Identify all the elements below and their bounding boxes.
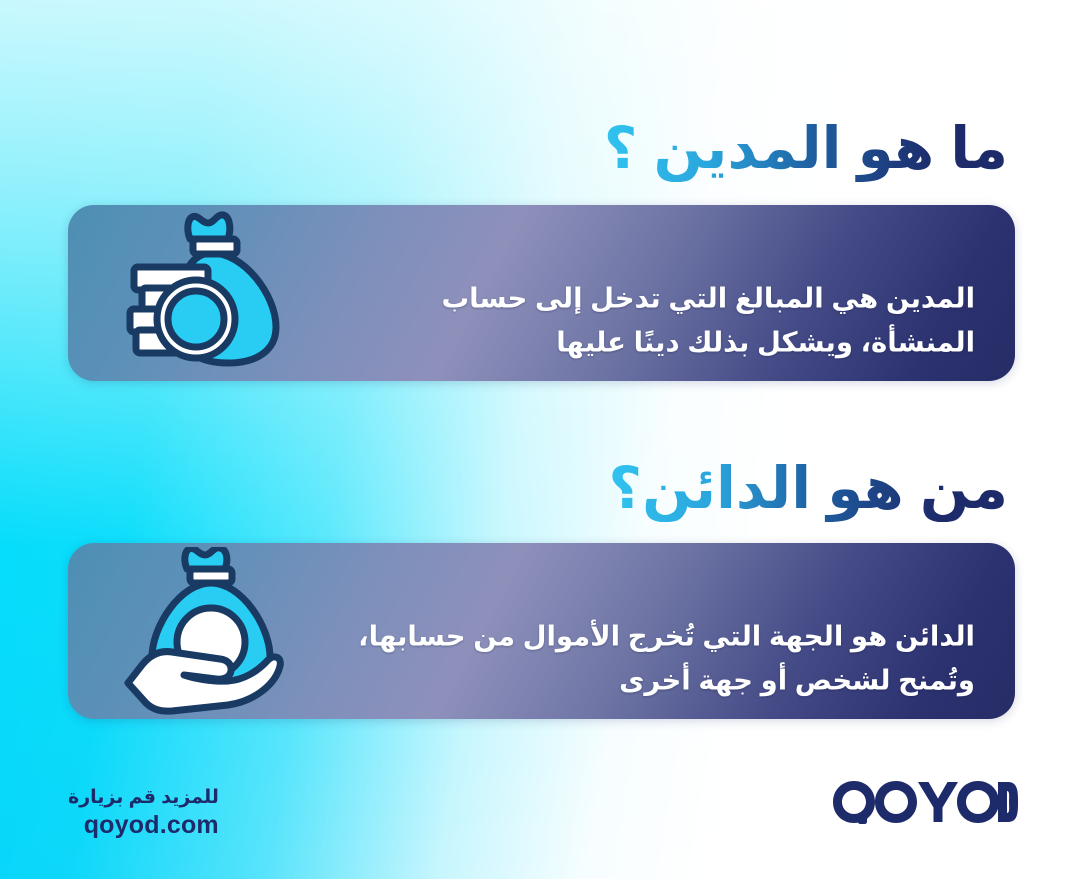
footer-website-link[interactable]: qoyod.com xyxy=(68,810,219,841)
section-1-body-text: المدين هي المبالغ التي تدخل إلى حساب الم… xyxy=(335,276,975,365)
footer-cta: للمزيد قم بزيارة qoyod.com xyxy=(68,786,219,842)
money-bag-with-coins-icon xyxy=(116,209,306,377)
section-2-card: الدائن هو الجهة التي تُخرج الأموال من حس… xyxy=(68,543,1015,719)
section-1-card: المدين هي المبالغ التي تدخل إلى حساب الم… xyxy=(68,205,1015,381)
section-1-heading: ما هو المدين ؟ xyxy=(604,117,1008,182)
footer-cta-label: للمزيد قم بزيارة xyxy=(68,786,219,810)
qoyod-logo xyxy=(832,779,1018,825)
hand-holding-money-bag-icon xyxy=(116,547,306,715)
section-2-body-text: الدائن هو الجهة التي تُخرج الأموال من حس… xyxy=(335,614,975,703)
section-2-heading: من هو الدائن؟ xyxy=(608,457,1008,522)
infographic-canvas: ما هو المدين ؟ xyxy=(0,0,1080,879)
